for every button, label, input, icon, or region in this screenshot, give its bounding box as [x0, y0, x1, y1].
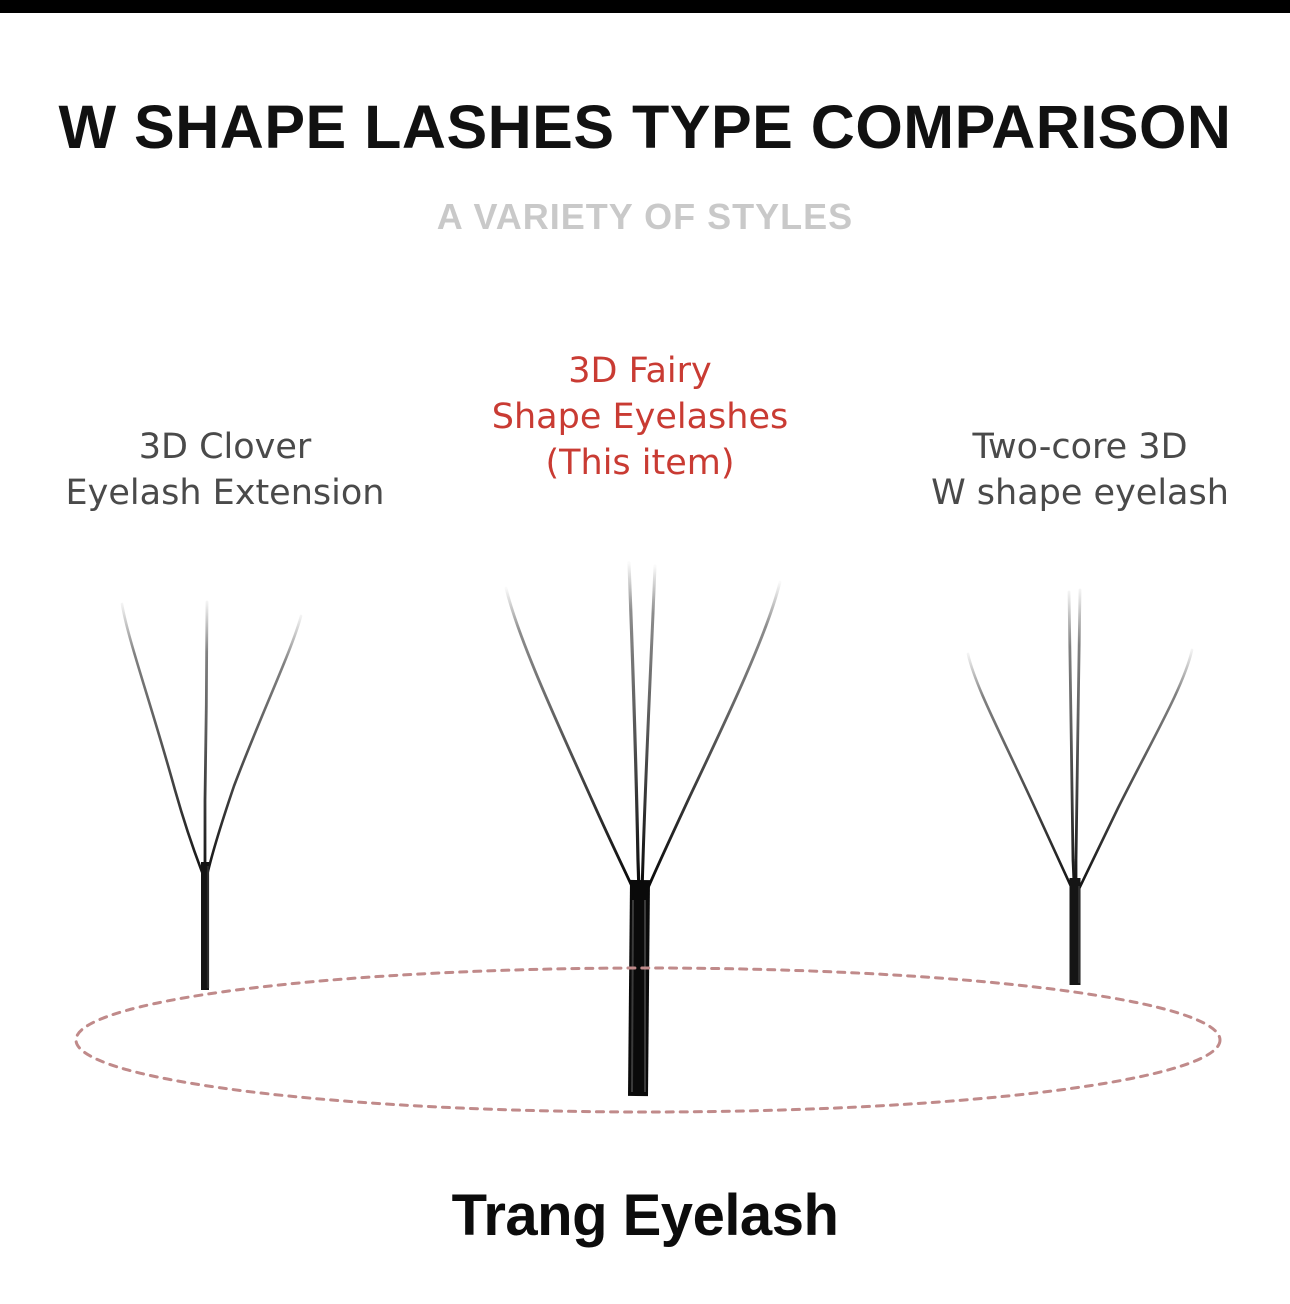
brand-name: Trang Eyelash: [0, 1182, 1290, 1249]
lash-label-fairy-3d: 3D Fairy Shape Eyelashes (This item): [440, 348, 840, 487]
page-subtitle: A VARIETY OF STYLES: [0, 196, 1290, 238]
lash-label-clover-3d: 3D Clover Eyelash Extension: [40, 424, 410, 516]
lash-graphic-fairy-3d: [506, 560, 780, 1096]
top-black-bar: [0, 0, 1290, 13]
lash-label-two-core-3d-w: Two-core 3D W shape eyelash: [880, 424, 1280, 516]
page-title: W SHAPE LASHES TYPE COMPARISON: [0, 92, 1290, 162]
lash-graphic-two-core-3d-w: [968, 590, 1192, 985]
lash-graphic-clover-3d: [122, 602, 301, 990]
highlight-ellipse: [76, 968, 1220, 1112]
comparison-infographic: W SHAPE LASHES TYPE COMPARISON A VARIETY…: [0, 0, 1290, 1304]
